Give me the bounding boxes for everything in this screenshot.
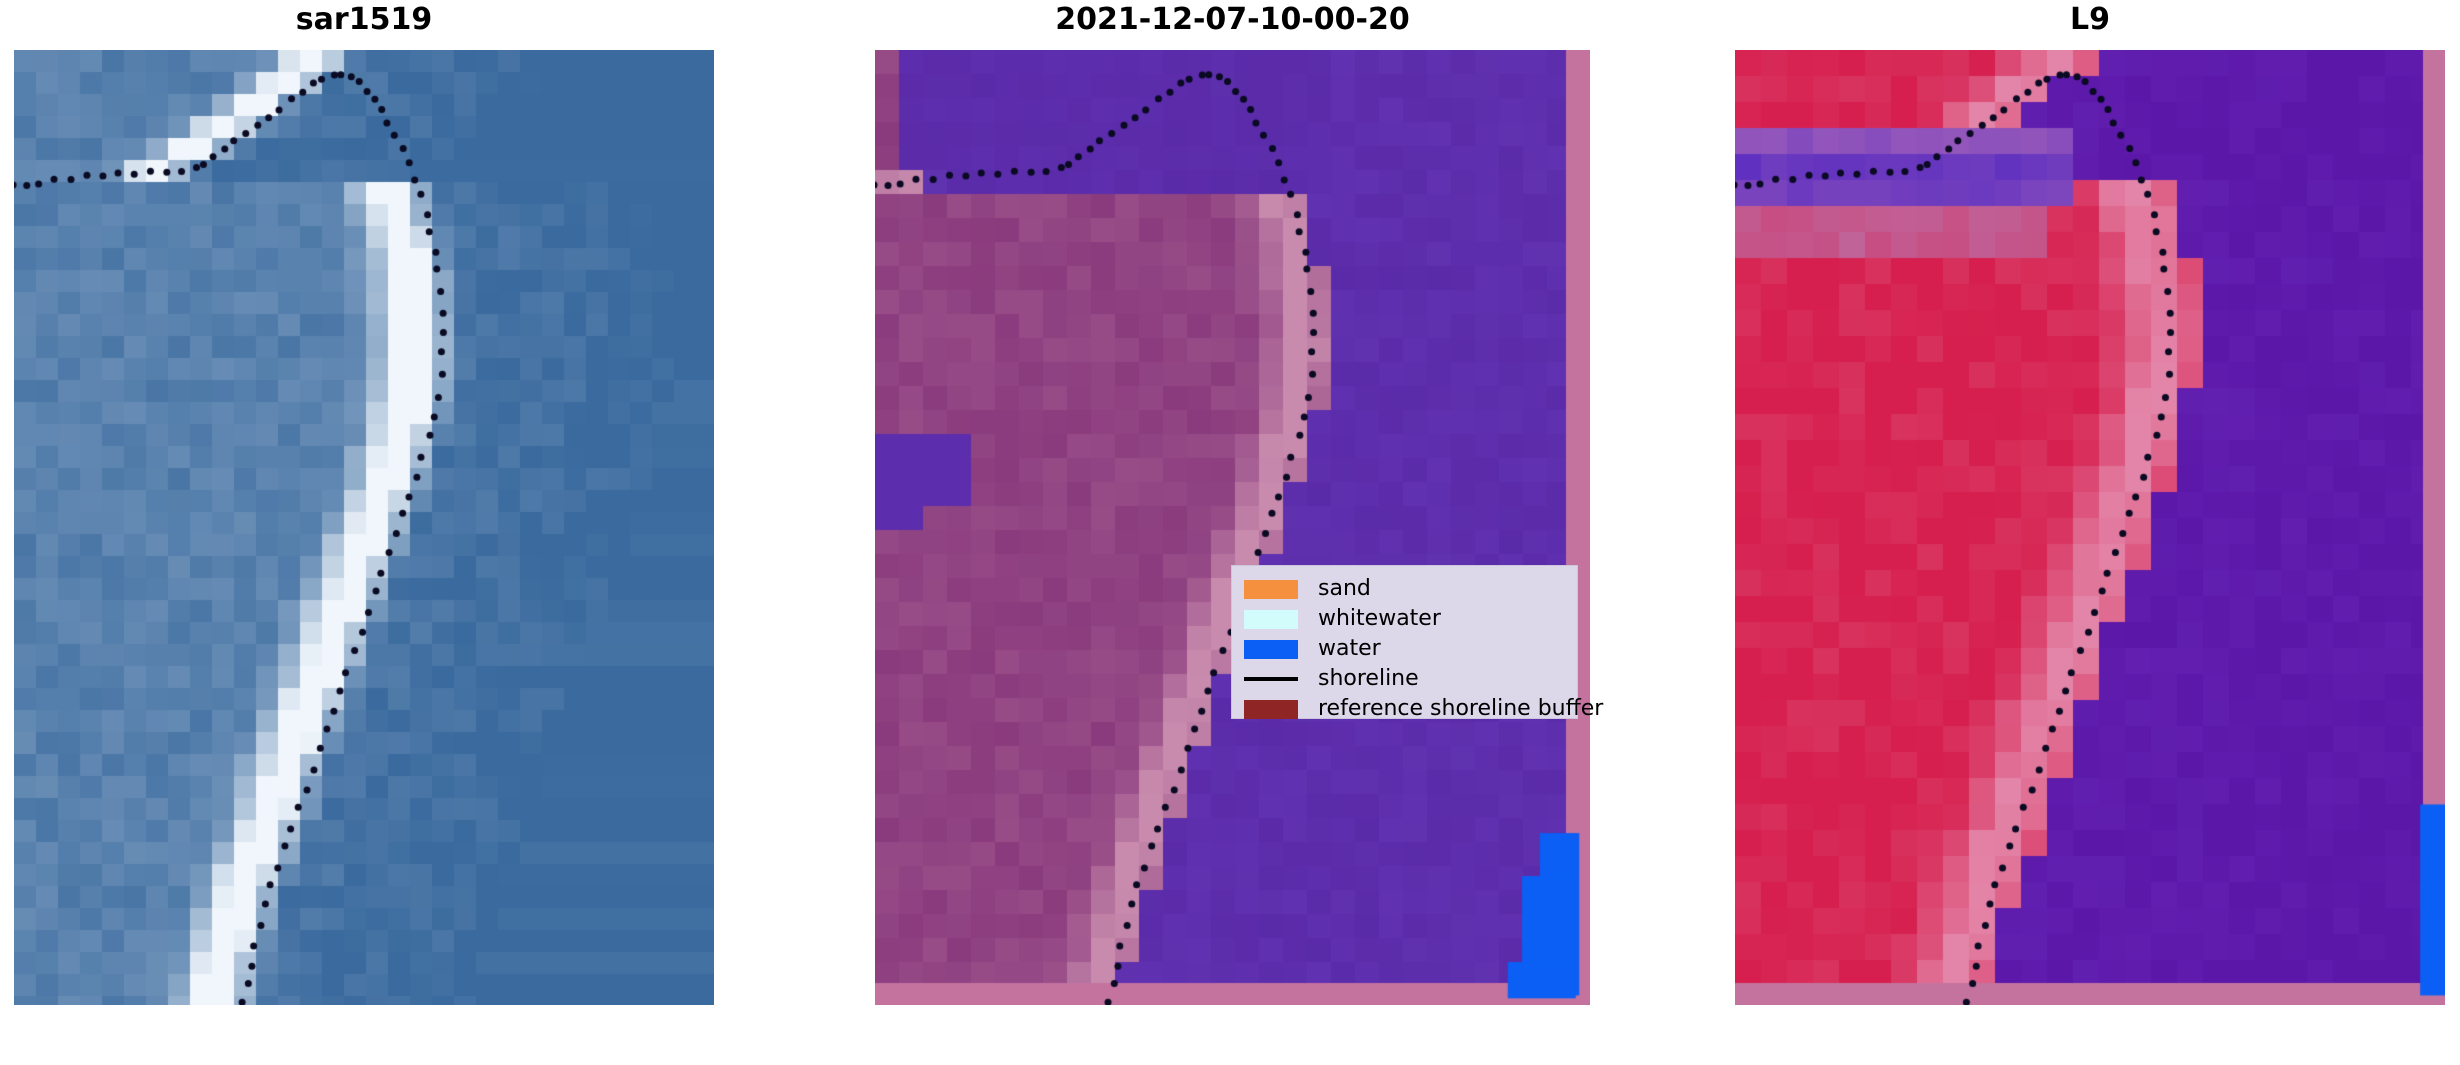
legend-label-reference-buffer: reference shoreline buffer xyxy=(1318,697,1603,721)
legend: sand whitewater water shoreline referenc… xyxy=(1231,565,1578,719)
panel-classified[interactable] xyxy=(875,50,1590,1005)
legend-label-water: water xyxy=(1318,637,1381,661)
shoreline-line-swatch xyxy=(1244,670,1298,689)
legend-item-sand: sand xyxy=(1244,574,1567,604)
sand-swatch xyxy=(1244,580,1298,599)
panel-l9-image xyxy=(1735,50,2445,1005)
panel-title-l9: L9 xyxy=(1735,3,2445,37)
legend-item-reference-buffer: reference shoreline buffer xyxy=(1244,694,1567,724)
figure-canvas: sar1519 2021-12-07-10-00-20 L9 sand whit… xyxy=(0,0,2460,1065)
legend-label-sand: sand xyxy=(1318,577,1371,601)
legend-label-shoreline: shoreline xyxy=(1318,667,1419,691)
panel-sar[interactable] xyxy=(14,50,714,1005)
panel-title-classified: 2021-12-07-10-00-20 xyxy=(875,3,1590,37)
reference-buffer-swatch xyxy=(1244,700,1298,719)
legend-item-water: water xyxy=(1244,634,1567,664)
whitewater-swatch xyxy=(1244,610,1298,629)
legend-item-whitewater: whitewater xyxy=(1244,604,1567,634)
panel-title-sar: sar1519 xyxy=(14,3,714,37)
panel-classified-image xyxy=(875,50,1590,1005)
water-swatch xyxy=(1244,640,1298,659)
panel-sar-image xyxy=(14,50,714,1005)
legend-item-shoreline: shoreline xyxy=(1244,664,1567,694)
legend-label-whitewater: whitewater xyxy=(1318,607,1441,631)
panel-l9[interactable] xyxy=(1735,50,2445,1005)
